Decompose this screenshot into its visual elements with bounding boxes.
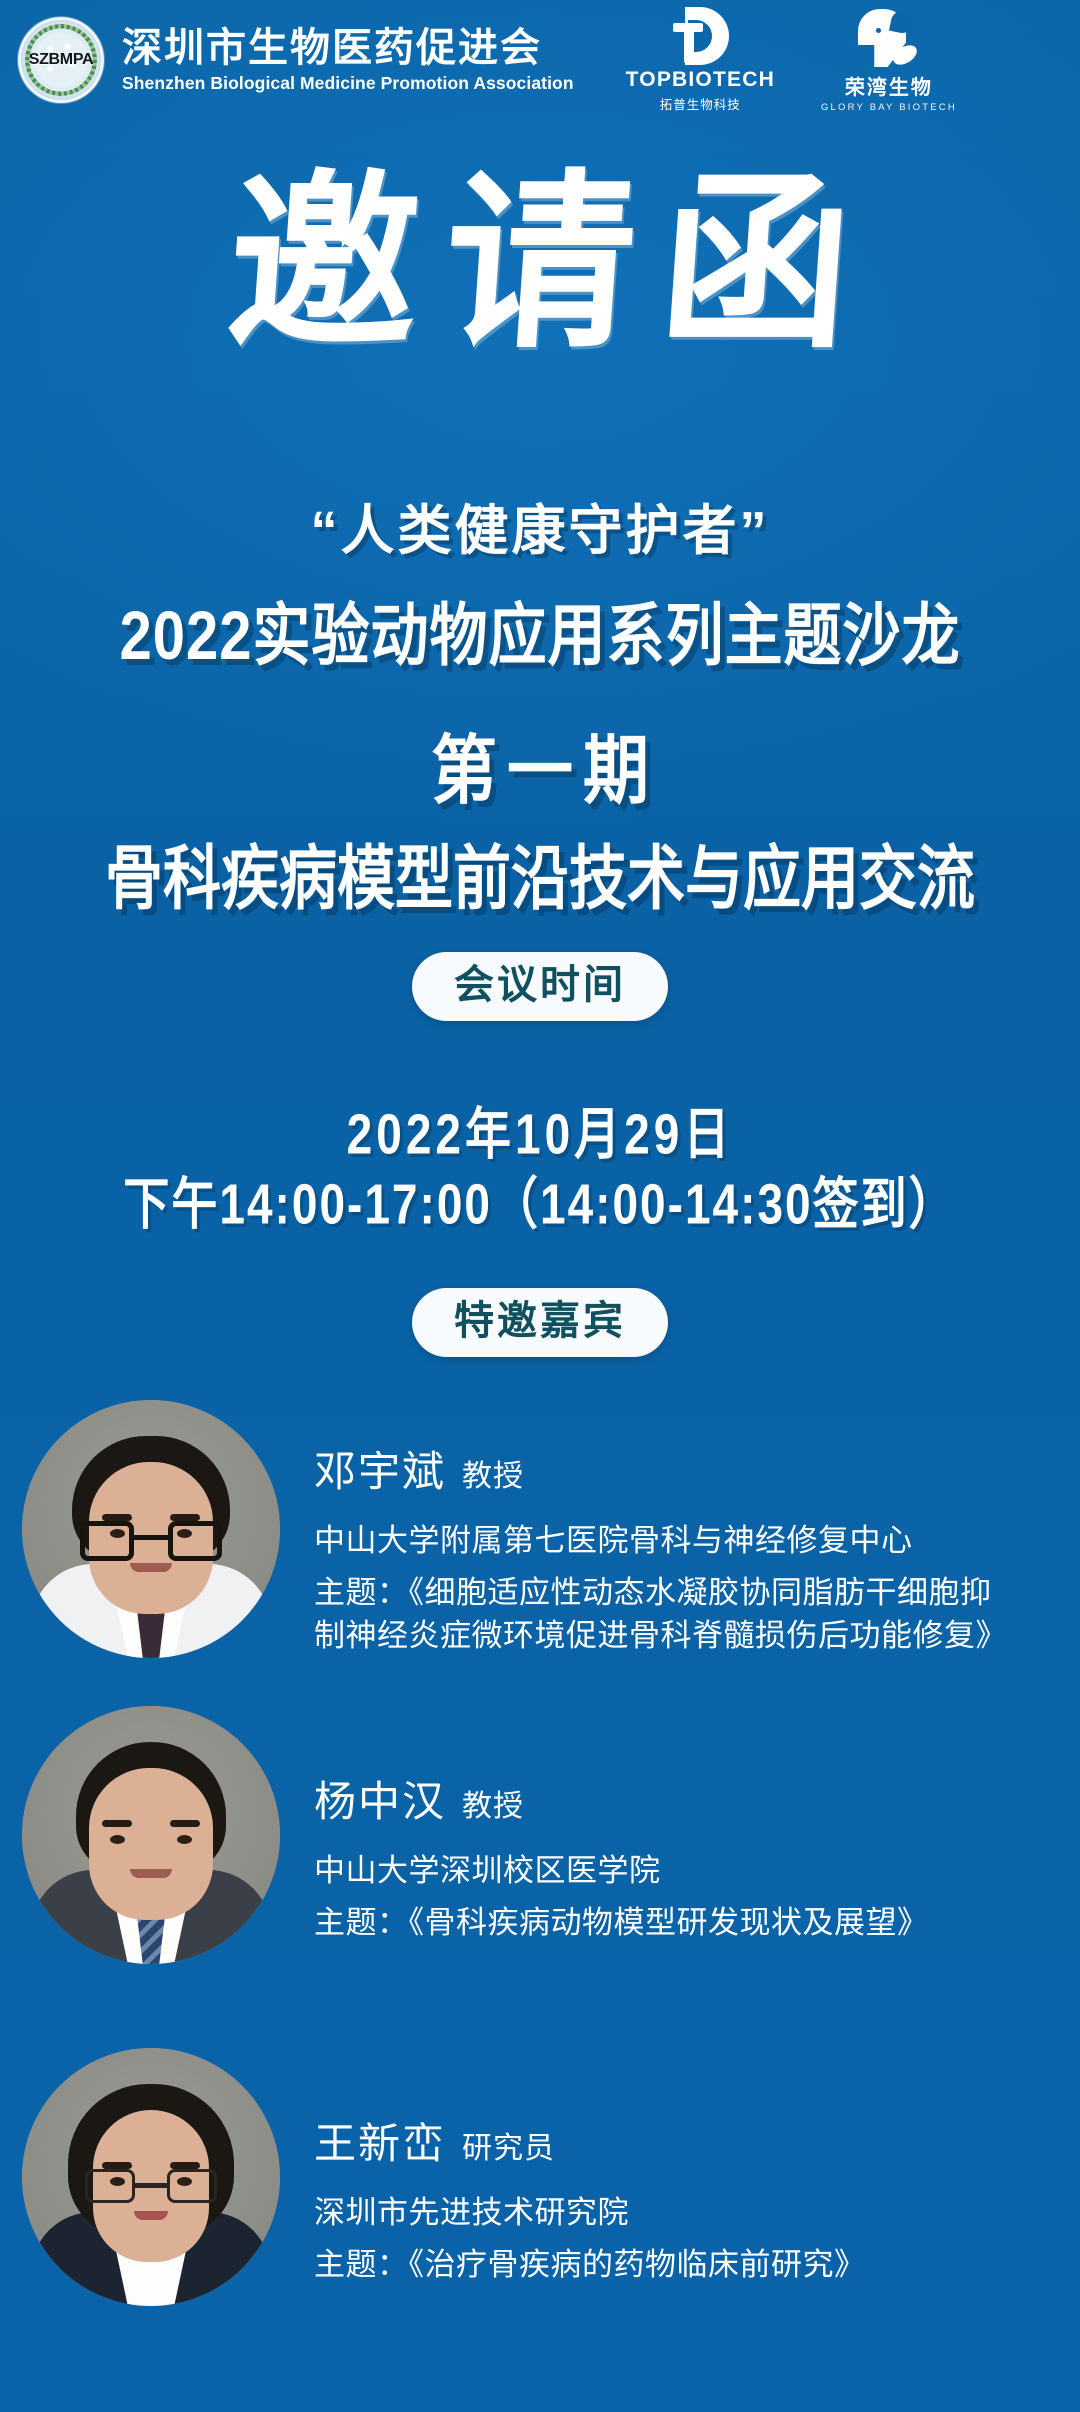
meeting-time-badge: 会议时间 [412, 952, 668, 1021]
speaker-name: 王新峦 [314, 2110, 446, 2171]
speaker-organization: 中山大学深圳校区医学院 [314, 1845, 929, 1890]
poster-header: SZBMPA 深圳市生物医药促进会 Shenzhen Biological Me… [0, 0, 1080, 120]
topbiotech-mark-icon [671, 7, 729, 65]
speaker-topic: 主题：《细胞适应性动态水凝胶协同脂肪干细胞抑制神经炎症微环境促进骨科脊髓损伤后功… [314, 1572, 1014, 1658]
speaker-topic: 主题：《骨科疾病动物模型研发现状及展望》 [314, 1902, 929, 1945]
event-slogan: “人类健康守护者” [0, 486, 1080, 565]
speaker-info: 邓宇斌 教授 中山大学附属第七医院骨科与神经修复中心 主题：《细胞适应性动态水凝… [314, 1400, 1014, 1658]
meeting-date: 2022年10月29日 [0, 1090, 1080, 1171]
glorybay-name-en: GLORY BAY BIOTECH [821, 102, 957, 113]
speaker-organization: 中山大学附属第七医院骨科与神经修复中心 [314, 1515, 1014, 1560]
topbiotech-name-cn: 拓普生物科技 [660, 94, 741, 113]
seal-text: SZBMPA [29, 51, 94, 69]
topbiotech-name-en: TOPBIOTECH [626, 68, 775, 92]
speaker-avatar [22, 2048, 280, 2306]
speaker-organization: 深圳市先进技术研究院 [314, 2187, 866, 2232]
glorybay-name-cn: 荣湾生物 [845, 71, 933, 100]
speaker-card: 王新峦 研究员 深圳市先进技术研究院 主题：《治疗骨疾病的药物临床前研究》 [0, 2048, 1080, 2306]
invitation-calligraphy-title: 邀请函 [0, 168, 1080, 358]
association-name-block: 深圳市生物医药促进会 Shenzhen Biological Medicine … [122, 26, 574, 95]
event-topic-title: 骨科疾病模型前沿技术与应用交流 [0, 822, 1080, 923]
event-series-title: 2022实验动物应用系列主题沙龙 [0, 580, 1080, 679]
speaker-avatar [22, 1706, 280, 1964]
sponsor-logo-topbiotech: TOPBIOTECH 拓普生物科技 [626, 7, 775, 113]
sponsor-logo-glorybay: 荣湾生物 GLORY BAY BIOTECH [821, 7, 957, 113]
speaker-title: 研究员 [462, 2123, 555, 2167]
speaker-info: 杨中汉 教授 中山大学深圳校区医学院 主题：《骨科疾病动物模型研发现状及展望》 [314, 1706, 929, 1945]
speaker-card: 杨中汉 教授 中山大学深圳校区医学院 主题：《骨科疾病动物模型研发现状及展望》 [0, 1706, 1080, 1964]
association-seal-logo: SZBMPA [18, 17, 104, 103]
speaker-topic: 主题：《治疗骨疾病的药物临床前研究》 [314, 2244, 866, 2287]
speaker-name: 杨中汉 [314, 1768, 446, 1829]
speaker-info: 王新峦 研究员 深圳市先进技术研究院 主题：《治疗骨疾病的药物临床前研究》 [314, 2048, 866, 2287]
special-guests-badge: 特邀嘉宾 [412, 1288, 668, 1357]
glorybay-rabbit-mark-icon [858, 7, 920, 69]
meeting-time-range: 下午14:00-17:00（14:00-14:30签到） [0, 1160, 1080, 1241]
speaker-card: 邓宇斌 教授 中山大学附属第七医院骨科与神经修复中心 主题：《细胞适应性动态水凝… [0, 1400, 1080, 1658]
association-name-cn: 深圳市生物医药促进会 [122, 26, 574, 71]
speaker-title: 教授 [462, 1781, 524, 1825]
event-session-number: 第一期 [0, 710, 1080, 819]
speaker-title: 教授 [462, 1451, 524, 1495]
speaker-avatar [22, 1400, 280, 1658]
speaker-name: 邓宇斌 [314, 1438, 446, 1499]
association-name-en: Shenzhen Biological Medicine Promotion A… [122, 73, 574, 94]
